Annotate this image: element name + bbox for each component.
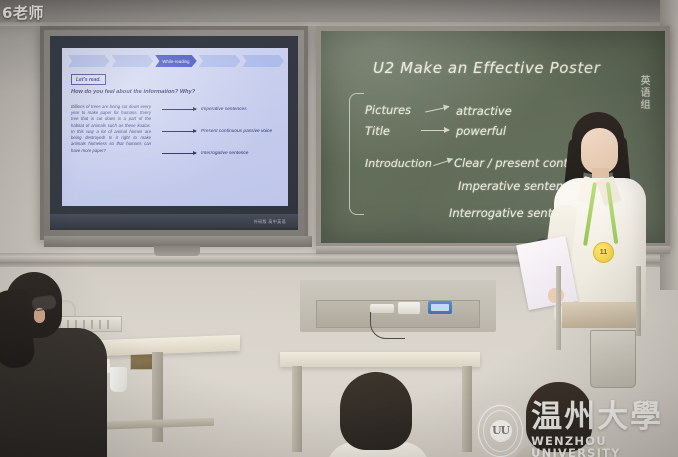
paper-cup bbox=[110, 367, 127, 392]
chalk-arrow-icon bbox=[425, 107, 449, 113]
banner-segment bbox=[199, 55, 241, 67]
annotation-row: Imperative sentences bbox=[162, 104, 284, 115]
slide-paragraph: Billions of trees are being cut down eve… bbox=[71, 104, 151, 154]
banner-active-label: While-reading bbox=[155, 55, 197, 67]
device-blue bbox=[428, 301, 452, 314]
seal-monogram: UU bbox=[490, 420, 512, 442]
university-name-cn: 温州大學 bbox=[531, 402, 678, 433]
chalk-item-title: Title bbox=[365, 124, 390, 138]
annotation-label: Interrogative sentence bbox=[201, 151, 248, 156]
annotation-row: Present continuous passive voice bbox=[162, 126, 284, 137]
classroom-photo: While-reading Let's read. How do you fee… bbox=[0, 0, 678, 457]
watermark-text: 温州大學 WENZHOU UNIVERSITY bbox=[531, 402, 678, 457]
student-center-head bbox=[340, 372, 412, 450]
device-blue-screen bbox=[431, 304, 449, 311]
banner-segment bbox=[68, 55, 110, 67]
wenzhou-university-watermark: UU 温州大學 WENZHOU UNIVERSITY bbox=[478, 402, 678, 457]
desk-center-leg-right bbox=[462, 366, 472, 452]
chalk-value-powerful: powerful bbox=[456, 124, 506, 138]
university-seal-icon: UU bbox=[478, 405, 523, 457]
arrow-icon bbox=[162, 153, 196, 154]
student-center bbox=[330, 372, 422, 457]
desk-left-leg bbox=[152, 352, 163, 442]
chalk-item-introduction: Introduction bbox=[365, 157, 432, 170]
presentation-slide: While-reading Let's read. How do you fee… bbox=[62, 48, 288, 206]
banner-segment-active: While-reading bbox=[155, 55, 197, 67]
slide-question: How do you feel about the information? W… bbox=[71, 89, 195, 95]
waste-bin bbox=[590, 330, 636, 388]
blackboard-title: U2 Make an Effective Poster bbox=[373, 59, 601, 77]
annotation-label: Imperative sentences bbox=[201, 107, 247, 112]
arrow-icon bbox=[162, 109, 196, 110]
chalk-arrow-icon bbox=[433, 159, 452, 166]
cable bbox=[370, 312, 405, 339]
slide-footer-text: 外研版 高中英语 bbox=[254, 219, 286, 225]
slide-progress-banner: While-reading bbox=[68, 55, 284, 67]
slide-annotation-list: Imperative sentences Present continuous … bbox=[162, 104, 284, 170]
chalk-brace bbox=[349, 93, 364, 215]
banner-segment bbox=[112, 55, 154, 67]
projector-screen: While-reading Let's read. How do you fee… bbox=[40, 26, 308, 240]
skirt bbox=[562, 302, 640, 328]
chalk-arrow-icon bbox=[421, 130, 449, 131]
screen-knob bbox=[154, 246, 200, 256]
wall-top-band bbox=[0, 0, 678, 22]
projector-screen-surface: While-reading Let's read. How do you fee… bbox=[50, 36, 298, 230]
university-name-en: WENZHOU UNIVERSITY bbox=[531, 436, 678, 457]
stand-pole-left bbox=[556, 266, 561, 350]
observer-left bbox=[0, 272, 104, 457]
projector-screen-footer: 外研版 高中英语 bbox=[50, 214, 298, 228]
arrow-icon bbox=[162, 131, 196, 132]
stand-pole-right bbox=[636, 266, 641, 336]
desk-center-leg bbox=[292, 366, 302, 452]
outlet-slot bbox=[107, 320, 109, 329]
banner-segment bbox=[242, 55, 284, 67]
chalk-vertical-note: 英语组 bbox=[636, 75, 651, 111]
chalk-item-pictures: Pictures bbox=[365, 103, 411, 117]
annotation-label: Present continuous passive voice bbox=[201, 129, 272, 134]
annotation-row: Interrogative sentence bbox=[162, 148, 284, 159]
number-badge: 11 bbox=[593, 242, 614, 263]
chalk-value-attractive: attractive bbox=[456, 104, 512, 118]
desk-center bbox=[280, 352, 480, 367]
top-left-caption: 6老师 bbox=[2, 2, 44, 23]
slide-tag: Let's read. bbox=[71, 74, 106, 85]
